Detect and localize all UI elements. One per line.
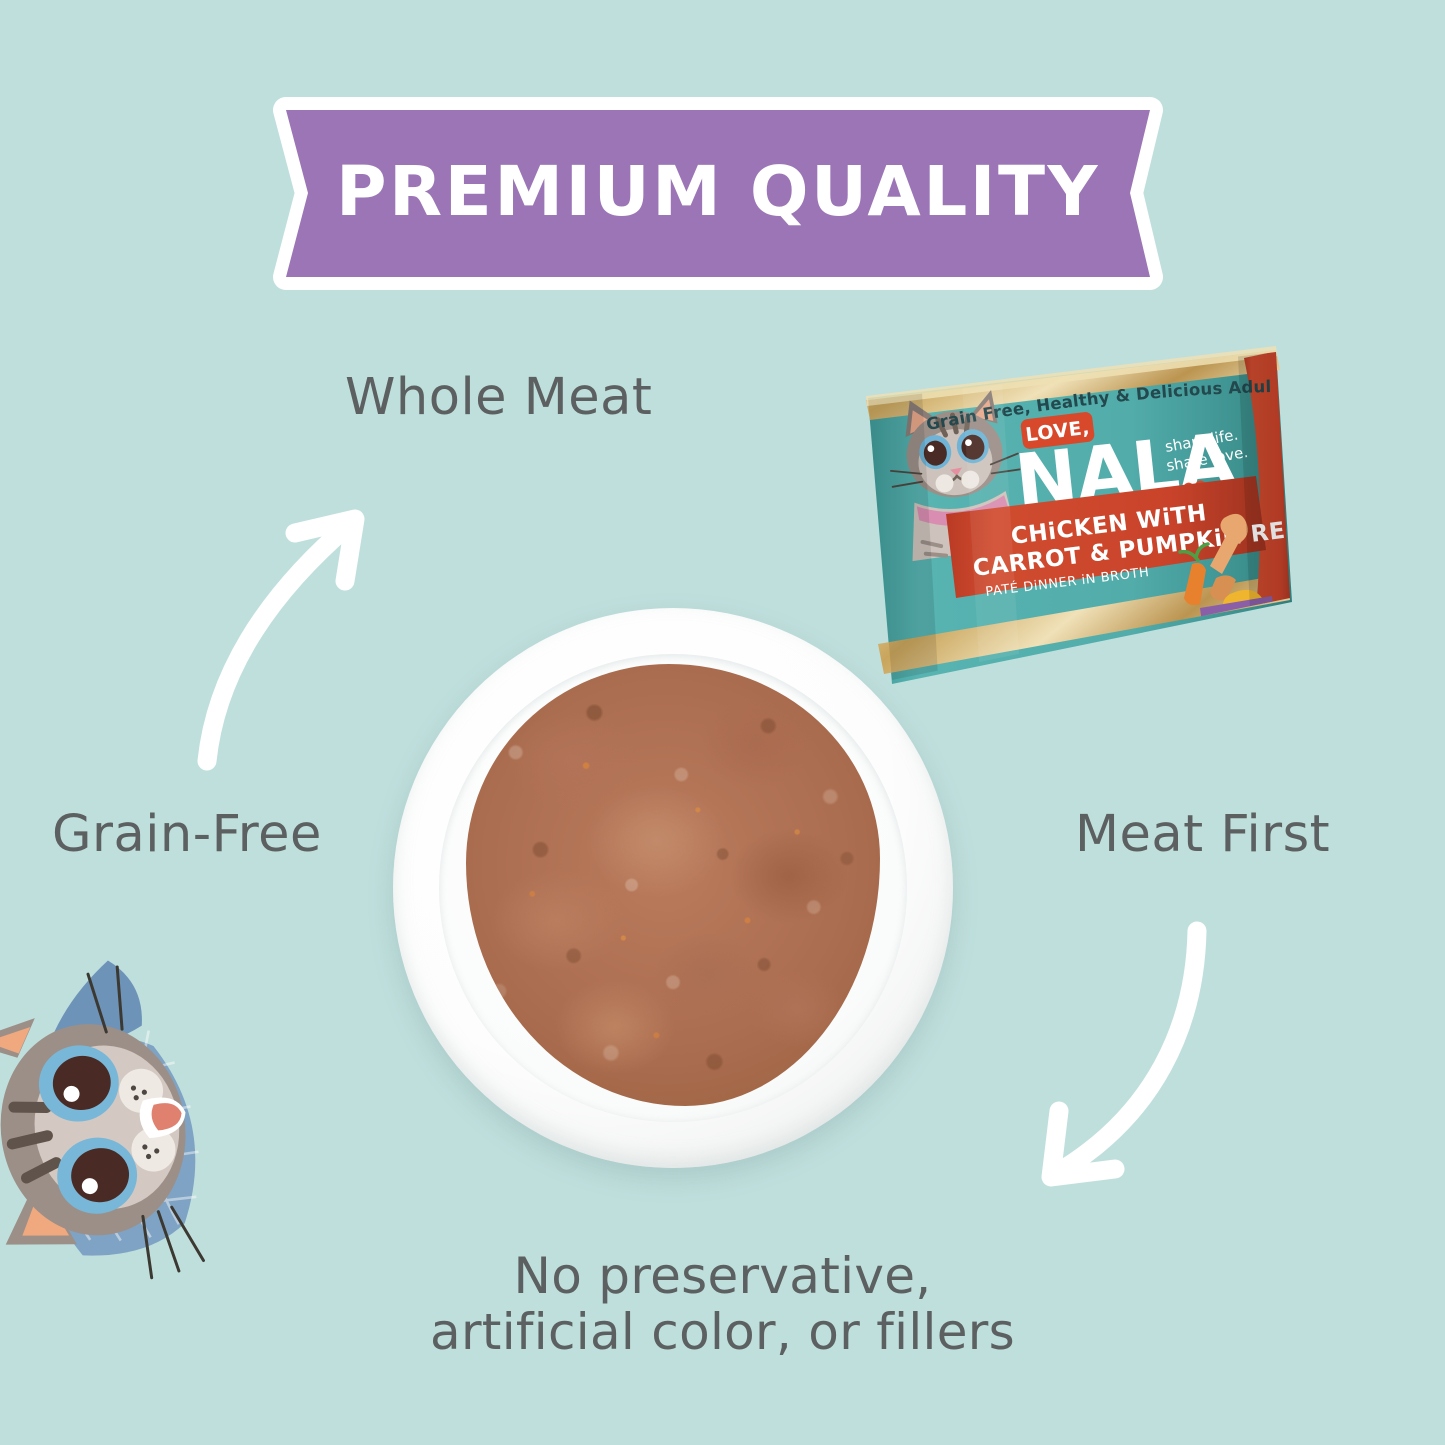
marketing-image-canvas: PREMIUM QUALITY Whole Meat Grain-Free Me… [0,0,1445,1445]
feature-label-whole-meat: Whole Meat [345,368,652,427]
feature-label-meat-first: Meat First [1075,805,1330,864]
nala-cat-mascot [0,925,300,1345]
curved-arrow-up-icon [175,485,405,775]
no-preservative-line-1: No preservative, [514,1247,932,1305]
premium-quality-banner: PREMIUM QUALITY [268,96,1168,291]
can-body: Grain Free, Healthy & Delicious Adult Ca… [852,344,1292,684]
product-can: Grain Free, Healthy & Delicious Adult Ca… [852,344,1292,696]
feature-label-grain-free: Grain-Free [52,805,322,864]
page-title: PREMIUM QUALITY [268,96,1168,291]
curved-arrow-down-icon [995,915,1245,1195]
